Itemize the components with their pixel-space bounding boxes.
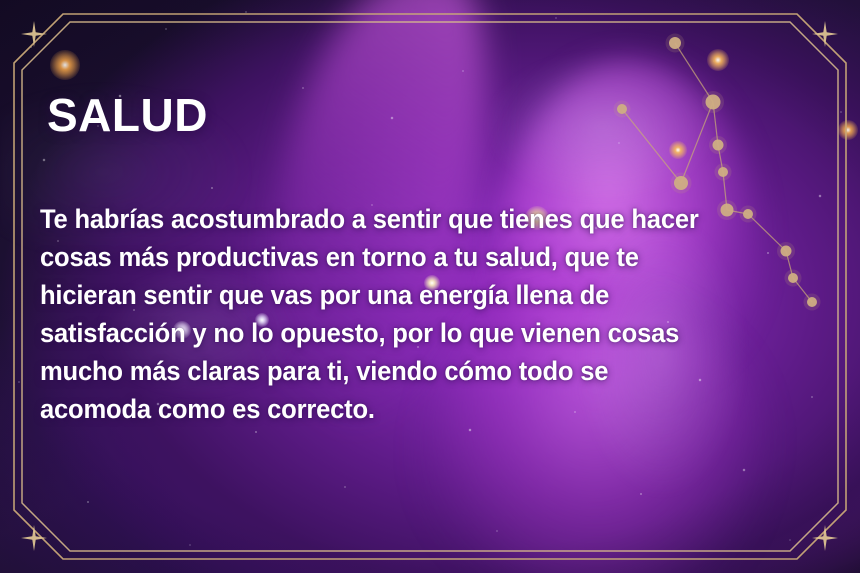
body-line: satisfacción y no lo opuesto, por lo que…: [40, 314, 802, 352]
body-line: cosas más productivas en torno a tu salu…: [40, 238, 802, 276]
body-line: hicieran sentir que vas por una energía …: [40, 276, 802, 314]
page-title: SALUD: [47, 92, 208, 138]
body-line: acomoda como es correcto.: [40, 390, 802, 428]
body-line: mucho más claras para ti, viendo cómo to…: [40, 352, 802, 390]
card-content: SALUD Te habrías acostumbrado a sentir q…: [0, 0, 860, 573]
body-paragraph: Te habrías acostumbrado a sentir que tie…: [40, 200, 802, 428]
horoscope-card: SALUD Te habrías acostumbrado a sentir q…: [0, 0, 860, 573]
body-line: Te habrías acostumbrado a sentir que tie…: [40, 200, 802, 238]
